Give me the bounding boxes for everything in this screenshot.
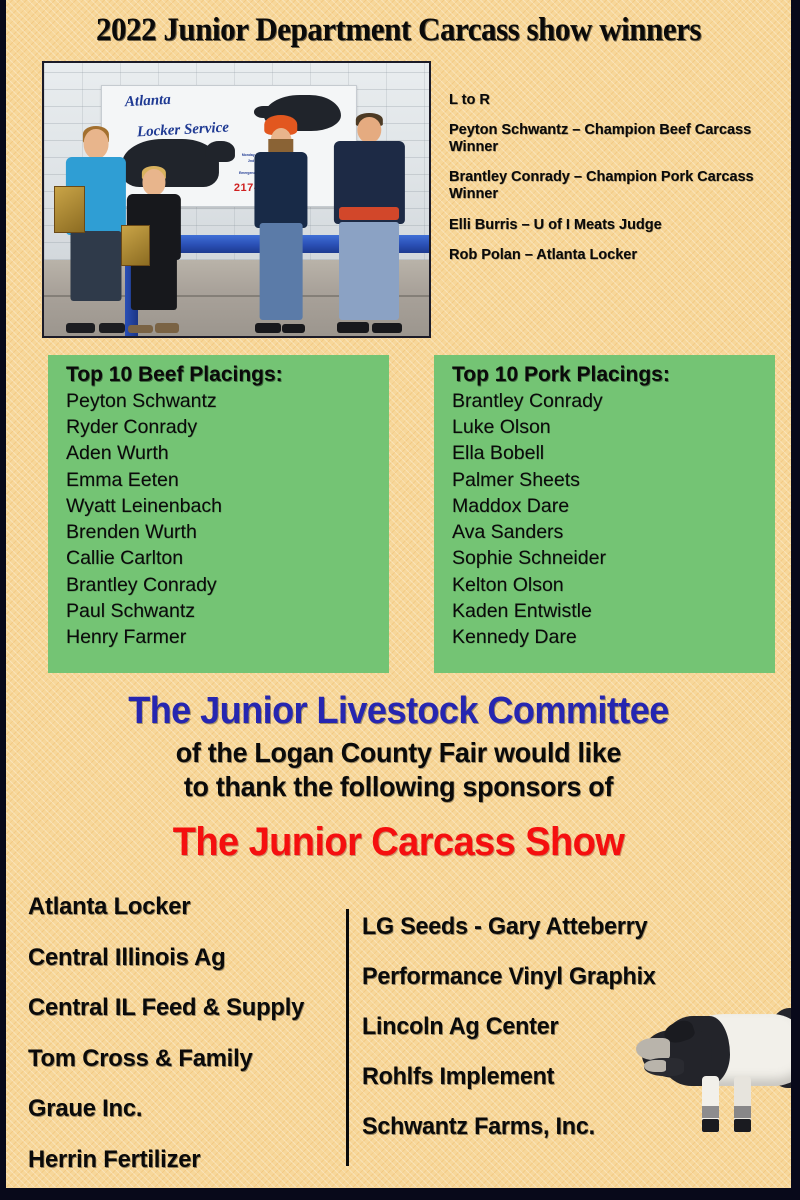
committee-body-line-2: to thank the following sponsors of (22, 770, 776, 804)
beef-placings-box: Top 10 Beef Placings: Peyton Schwantz Ry… (48, 355, 389, 673)
red-apron (339, 207, 399, 220)
page-title: 2022 Junior Department Carcass show winn… (30, 12, 768, 49)
sign-line-1: Atlanta (124, 92, 171, 111)
list-item: Kaden Entwistle (452, 598, 775, 624)
pig-leg-marking (734, 1106, 751, 1118)
border-right (791, 0, 800, 1200)
sponsors-left-column: Atlanta Locker Central Illinois Ag Centr… (28, 895, 338, 1188)
list-item: Emma Eeten (66, 467, 389, 493)
pig-snout (636, 1038, 670, 1060)
sponsor-item: Herrin Fertilizer (28, 1148, 329, 1173)
sponsor-item: Central IL Feed & Supply (28, 996, 329, 1021)
pig-jaw (644, 1058, 684, 1076)
shoe-left (66, 323, 95, 333)
person-elli-burris (252, 118, 310, 334)
list-item: Callie Carlton (66, 545, 389, 571)
pig-leg-marking (702, 1106, 719, 1118)
list-item: Brantley Conrady (452, 388, 775, 414)
list-item: Sophie Schneider (452, 545, 775, 571)
person-rob-polan (333, 115, 406, 333)
committee-block: The Junior Livestock Committee of the Lo… (6, 692, 791, 862)
pork-placings-list: Brantley Conrady Luke Olson Ella Bobell … (434, 388, 775, 650)
show-name: The Junior Carcass Show (26, 822, 772, 862)
list-item: Kelton Olson (452, 572, 775, 598)
torso (254, 152, 307, 227)
sponsor-item: Performance Vinyl Graphix (362, 965, 682, 989)
person-brantley-conrady (125, 169, 183, 333)
caption-line: L to R (449, 92, 779, 109)
shoe-right (155, 323, 178, 333)
pig-hoof (702, 1119, 719, 1132)
list-item: Brantley Conrady (66, 572, 389, 598)
poster-canvas: 2022 Junior Department Carcass show winn… (6, 0, 791, 1188)
caption-line: Rob Polan – Atlanta Locker (449, 247, 779, 264)
list-item: Ava Sanders (452, 519, 775, 545)
pork-placings-heading: Top 10 Pork Placings: (434, 355, 775, 388)
sponsor-item: Atlanta Locker (28, 895, 329, 920)
shoe-left (337, 322, 369, 333)
list-item: Henry Farmer (66, 624, 389, 650)
sponsor-item: Rohlfs Implement (362, 1065, 682, 1089)
caption-line: Elli Burris – U of I Meats Judge (449, 217, 779, 234)
pig-rear-leg (734, 1076, 751, 1132)
pig-front-leg (702, 1076, 719, 1132)
pork-placings-box: Top 10 Pork Placings: Brantley Conrady L… (434, 355, 775, 673)
list-item: Ella Bobell (452, 440, 775, 466)
list-item: Aden Wurth (66, 440, 389, 466)
shoe-right (282, 324, 305, 334)
sponsor-item: LG Seeds - Gary Atteberry (362, 915, 682, 939)
award-plaque (54, 186, 85, 233)
sponsor-item: Graue Inc. (28, 1097, 329, 1122)
list-item: Paul Schwantz (66, 598, 389, 624)
caption-line: Peyton Schwantz – Champion Beef Carcass … (449, 122, 779, 156)
list-item: Maddox Dare (452, 493, 775, 519)
list-item: Kennedy Dare (452, 624, 775, 650)
sponsor-item: Tom Cross & Family (28, 1047, 329, 1072)
sponsors-divider (346, 909, 349, 1166)
beef-placings-heading: Top 10 Beef Placings: (48, 355, 389, 388)
shoe-right (372, 323, 401, 333)
legs (339, 222, 399, 320)
list-item: Luke Olson (452, 414, 775, 440)
award-plaque (121, 225, 150, 266)
legs (70, 231, 121, 301)
list-item: Palmer Sheets (452, 467, 775, 493)
list-item: Brenden Wurth (66, 519, 389, 545)
border-bottom (0, 1188, 800, 1200)
caption-line: Brantley Conrady – Champion Pork Carcass… (449, 169, 779, 203)
head (84, 129, 109, 160)
sponsor-item: Lincoln Ag Center (362, 1015, 682, 1039)
shoe-left (128, 325, 153, 333)
sponsor-item: Central Illinois Ag (28, 946, 329, 971)
shoe-right (99, 323, 125, 333)
hampshire-pig-illustration (642, 1000, 791, 1150)
border-left (0, 0, 6, 1200)
person-peyton-schwantz (63, 129, 128, 334)
photo-caption: L to R Peyton Schwantz – Champion Beef C… (449, 92, 779, 277)
head (142, 169, 165, 195)
sign-line-2: Locker Service (137, 119, 230, 141)
list-item: Peyton Schwantz (66, 388, 389, 414)
head (358, 117, 381, 143)
shoe-left (255, 323, 280, 334)
committee-body-line-1: of the Logan County Fair would like (22, 736, 776, 770)
committee-headline: The Junior Livestock Committee (26, 692, 772, 730)
legs (259, 223, 302, 320)
carcass-show-winners-photo: Atlanta Locker Service Monday-Friday 8am… (42, 61, 431, 338)
list-item: Wyatt Leinenbach (66, 493, 389, 519)
sponsor-item: Schwantz Farms, Inc. (362, 1115, 682, 1139)
pig-hoof (734, 1119, 751, 1132)
list-item: Ryder Conrady (66, 414, 389, 440)
beef-placings-list: Peyton Schwantz Ryder Conrady Aden Wurth… (48, 388, 389, 650)
